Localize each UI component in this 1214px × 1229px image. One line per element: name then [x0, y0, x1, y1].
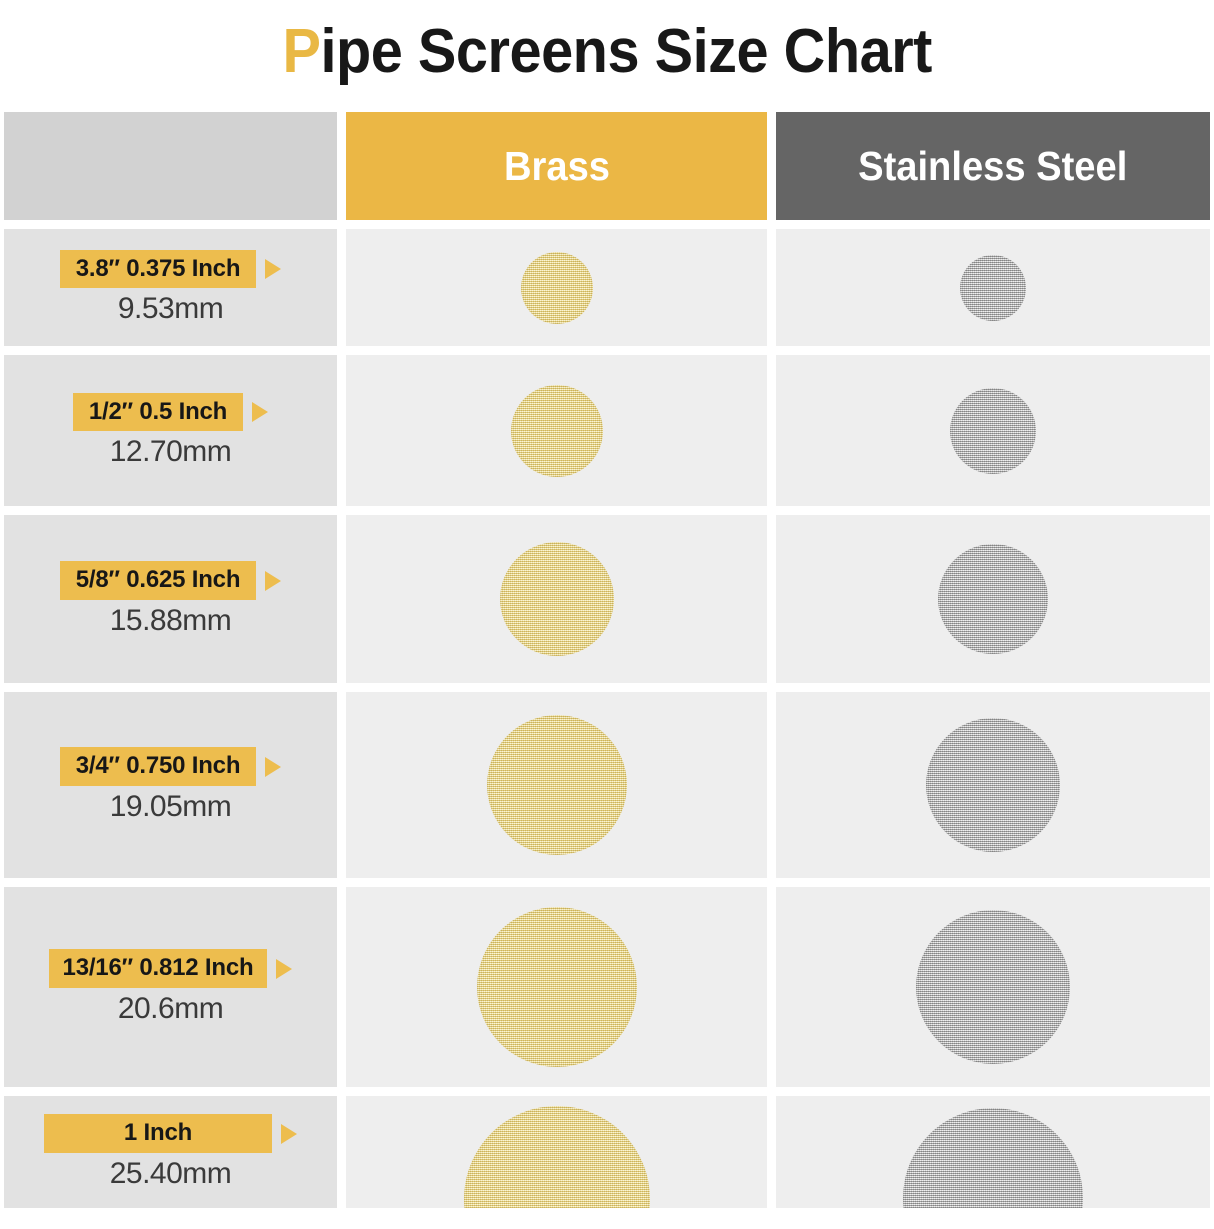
- page-title-text: Pipe Screens Size Chart: [282, 21, 931, 83]
- row-label-cell: 3/4″ 0.750 Inch 19.05mm: [4, 692, 337, 878]
- row-label-inner: 5/8″ 0.625 Inch 15.88mm: [4, 515, 337, 683]
- row-steel-cell: [776, 1096, 1210, 1208]
- brass-swatch-cell: [346, 1096, 767, 1208]
- size-mm-label: 19.05mm: [110, 790, 232, 823]
- title-rest: ipe Screens Size Chart: [320, 17, 931, 86]
- steel-mesh-disc: [916, 910, 1070, 1064]
- table-row: 5/8″ 0.625 Inch 15.88mm: [4, 515, 1210, 683]
- size-mm-label: 12.70mm: [110, 435, 232, 468]
- steel-swatch-cell: [776, 229, 1210, 346]
- header-cell-brass: Brass: [346, 112, 767, 220]
- row-brass-cell: [346, 692, 767, 878]
- size-badge-row: 3/4″ 0.750 Inch: [60, 747, 282, 786]
- row-steel-cell: [776, 692, 1210, 878]
- row-label-inner: 13/16″ 0.812 Inch 20.6mm: [4, 887, 337, 1087]
- steel-mesh-disc: [903, 1108, 1083, 1208]
- arrow-right-icon: [265, 571, 281, 591]
- header-steel-label: Stainless Steel: [858, 143, 1127, 190]
- row-steel-cell: [776, 355, 1210, 506]
- page-title: Pipe Screens Size Chart: [0, 0, 1214, 104]
- header-cell-steel: Stainless Steel: [776, 112, 1210, 220]
- title-accent-letter: P: [282, 17, 320, 86]
- header-brass-label: Brass: [503, 143, 609, 190]
- steel-mesh-disc: [950, 388, 1036, 474]
- header-blank-cell: [4, 112, 337, 220]
- size-badge: 3.8″ 0.375 Inch: [60, 250, 257, 289]
- steel-swatch-cell: [776, 515, 1210, 683]
- row-label-cell: 3.8″ 0.375 Inch 9.53mm: [4, 229, 337, 346]
- size-chart-page: Pipe Screens Size Chart Brass Stainless …: [0, 0, 1214, 1229]
- size-badge-row: 1/2″ 0.5 Inch: [73, 393, 268, 432]
- size-chart-table: Brass Stainless Steel 3.8″ 0.375 Inch 9.…: [4, 112, 1210, 1208]
- size-badge: 1 Inch: [44, 1114, 272, 1153]
- header-cell-size: [4, 112, 337, 220]
- row-brass-cell: [346, 887, 767, 1087]
- steel-swatch-cell: [776, 1096, 1210, 1208]
- row-brass-cell: [346, 355, 767, 506]
- size-badge: 13/16″ 0.812 Inch: [49, 949, 268, 988]
- row-brass-cell: [346, 1096, 767, 1208]
- size-badge: 3/4″ 0.750 Inch: [60, 747, 257, 786]
- brass-mesh-disc: [477, 907, 637, 1067]
- brass-swatch-cell: [346, 355, 767, 506]
- steel-swatch-cell: [776, 692, 1210, 878]
- arrow-right-icon: [265, 757, 281, 777]
- size-badge-row: 13/16″ 0.812 Inch: [49, 949, 293, 988]
- size-badge: 5/8″ 0.625 Inch: [60, 561, 257, 600]
- brass-swatch-cell: [346, 692, 767, 878]
- arrow-right-icon: [265, 259, 281, 279]
- table-row: 3/4″ 0.750 Inch 19.05mm: [4, 692, 1210, 878]
- row-label-inner: 1/2″ 0.5 Inch 12.70mm: [4, 355, 337, 506]
- arrow-right-icon: [281, 1124, 297, 1144]
- row-label-cell: 5/8″ 0.625 Inch 15.88mm: [4, 515, 337, 683]
- row-label-inner: 3.8″ 0.375 Inch 9.53mm: [4, 229, 337, 346]
- size-mm-label: 20.6mm: [118, 992, 223, 1025]
- size-badge: 1/2″ 0.5 Inch: [73, 393, 243, 432]
- table-row: 13/16″ 0.812 Inch 20.6mm: [4, 887, 1210, 1087]
- size-mm-label: 15.88mm: [110, 604, 232, 637]
- brass-mesh-disc: [500, 542, 614, 656]
- row-label-inner: 3/4″ 0.750 Inch 19.05mm: [4, 692, 337, 878]
- steel-mesh-disc: [938, 544, 1048, 654]
- steel-swatch-cell: [776, 887, 1210, 1087]
- brass-mesh-disc: [464, 1106, 650, 1208]
- row-label-cell: 1/2″ 0.5 Inch 12.70mm: [4, 355, 337, 506]
- row-steel-cell: [776, 229, 1210, 346]
- steel-mesh-disc: [926, 718, 1060, 852]
- row-label-cell: 1 Inch 25.40mm: [4, 1096, 337, 1208]
- size-badge-row: 5/8″ 0.625 Inch: [60, 561, 282, 600]
- brass-swatch-cell: [346, 515, 767, 683]
- brass-mesh-disc: [487, 715, 627, 855]
- steel-mesh-disc: [960, 255, 1026, 321]
- table-row: 1/2″ 0.5 Inch 12.70mm: [4, 355, 1210, 506]
- row-label-cell: 13/16″ 0.812 Inch 20.6mm: [4, 887, 337, 1087]
- size-mm-label: 25.40mm: [110, 1157, 232, 1190]
- row-label-inner: 1 Inch 25.40mm: [4, 1096, 337, 1208]
- arrow-right-icon: [276, 959, 292, 979]
- row-brass-cell: [346, 515, 767, 683]
- table-row: 3.8″ 0.375 Inch 9.53mm: [4, 229, 1210, 346]
- brass-swatch-cell: [346, 887, 767, 1087]
- brass-mesh-disc: [511, 385, 603, 477]
- header-steel-bg: Stainless Steel: [776, 112, 1210, 220]
- brass-swatch-cell: [346, 229, 767, 346]
- size-badge-row: 3.8″ 0.375 Inch: [60, 250, 282, 289]
- size-badge-row: 1 Inch: [44, 1114, 297, 1153]
- row-steel-cell: [776, 887, 1210, 1087]
- arrow-right-icon: [252, 402, 268, 422]
- row-brass-cell: [346, 229, 767, 346]
- table-row: 1 Inch 25.40mm: [4, 1096, 1210, 1208]
- brass-mesh-disc: [521, 252, 593, 324]
- table-header-row: Brass Stainless Steel: [4, 112, 1210, 220]
- header-brass-bg: Brass: [346, 112, 767, 220]
- row-steel-cell: [776, 515, 1210, 683]
- steel-swatch-cell: [776, 355, 1210, 506]
- size-mm-label: 9.53mm: [118, 292, 223, 325]
